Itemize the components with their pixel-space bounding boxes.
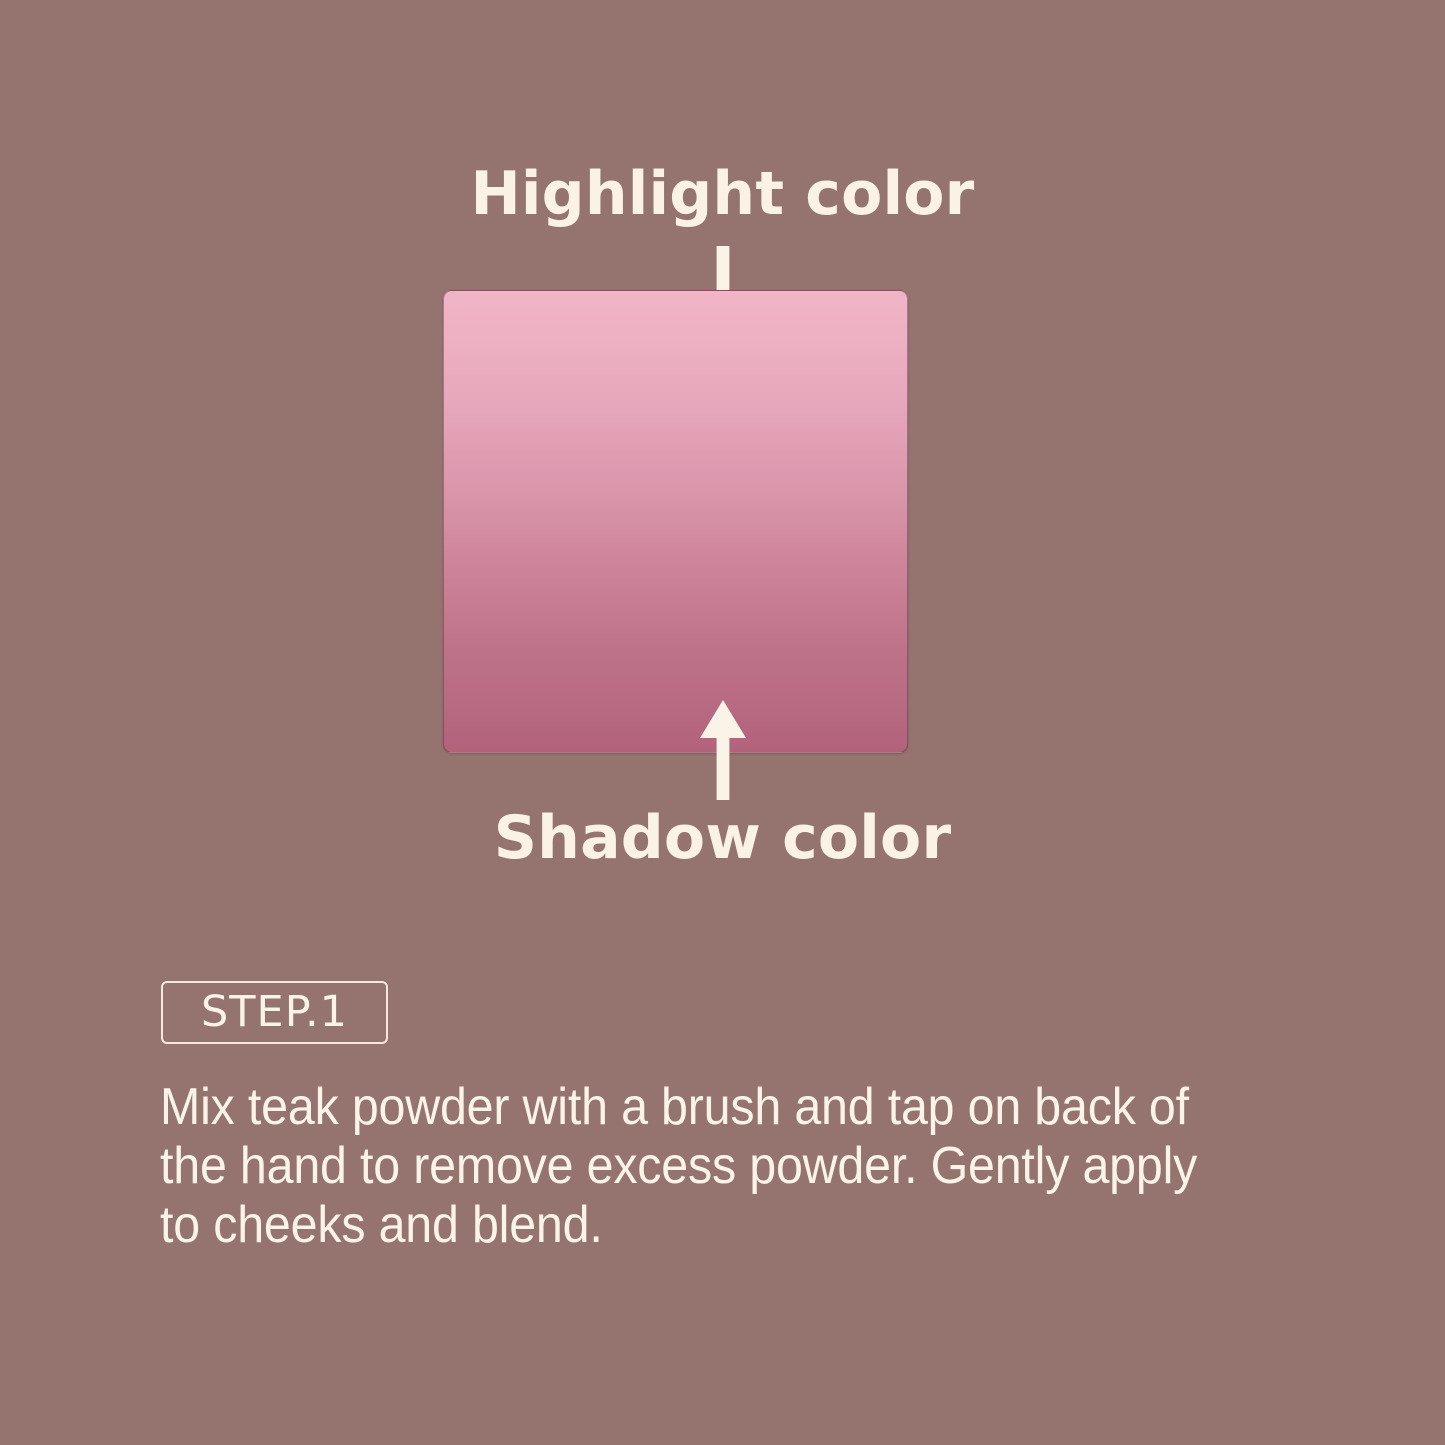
- step-badge: STEP.1: [161, 981, 388, 1044]
- blush-gradient-swatch: [443, 290, 908, 753]
- shadow-color-label: Shadow color: [0, 802, 1445, 874]
- arrow-up-icon: [696, 698, 750, 802]
- step-badge-label: STEP.1: [201, 991, 348, 1034]
- step-description-text: Mix teak powder with a brush and tap on …: [160, 1078, 1239, 1255]
- product-instruction-panel: Highlight color Shadow color STEP.1 Mix …: [0, 0, 1445, 1445]
- highlight-color-label: Highlight color: [0, 158, 1445, 230]
